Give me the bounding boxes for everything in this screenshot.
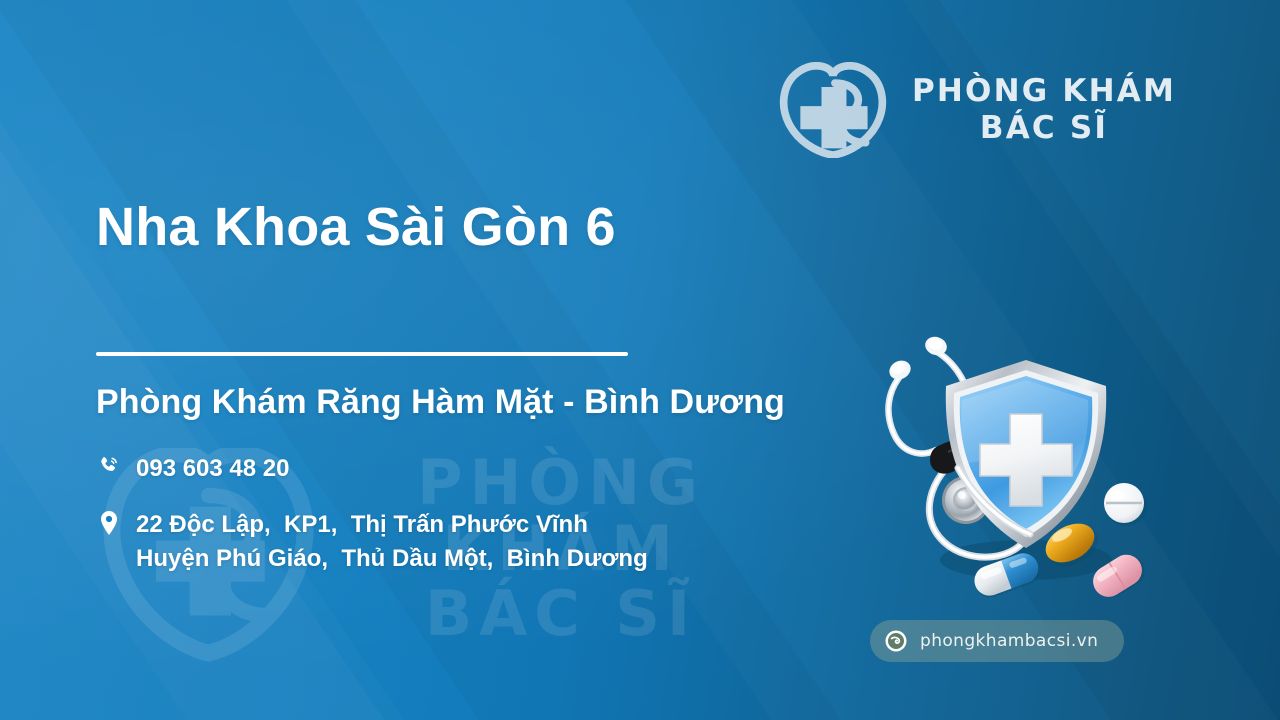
website-url: phongkhambacsi.vn — [920, 631, 1098, 651]
address-text: 22 Độc Lập, KP1, Thị Trấn Phước Vĩnh Huy… — [136, 508, 648, 576]
title-divider — [96, 352, 628, 356]
address-line2: Huyện Phú Giáo, Thủ Dầu Một, Bình Dương — [136, 545, 648, 572]
watermark-line2: BÁC SĨ — [326, 581, 796, 647]
contact-address[interactable]: 22 Độc Lập, KP1, Thị Trấn Phước Vĩnh Huy… — [96, 508, 648, 576]
clinic-banner: PHÒNG KHÁM BÁC SĨ PHÒNG KHÁM BÁC SĨ Nha … — [0, 0, 1280, 720]
map-pin-icon — [96, 508, 122, 540]
phone-number: 093 603 48 20 — [136, 452, 289, 486]
brand-wordmark: PHÒNG KHÁM BÁC SĨ — [912, 73, 1176, 146]
globe-icon — [884, 629, 908, 653]
phone-call-icon — [96, 452, 122, 484]
address-line1: 22 Độc Lập, KP1, Thị Trấn Phước Vĩnh — [136, 511, 588, 538]
medical-shield-stethoscope-pills-illustration — [858, 328, 1158, 613]
contact-phone[interactable]: 093 603 48 20 — [96, 452, 289, 486]
brand-logo: PHÒNG KHÁM BÁC SĨ — [774, 62, 1176, 158]
brand-line1: PHÒNG KHÁM — [912, 73, 1176, 110]
page-subtitle: Phòng Khám Răng Hàm Mặt - Bình Dương — [96, 383, 785, 422]
website-badge[interactable]: phongkhambacsi.vn — [870, 620, 1124, 662]
brand-line2: BÁC SĨ — [912, 110, 1176, 147]
heart-cross-logo-icon — [774, 62, 892, 158]
page-title: Nha Khoa Sài Gòn 6 — [96, 196, 616, 258]
